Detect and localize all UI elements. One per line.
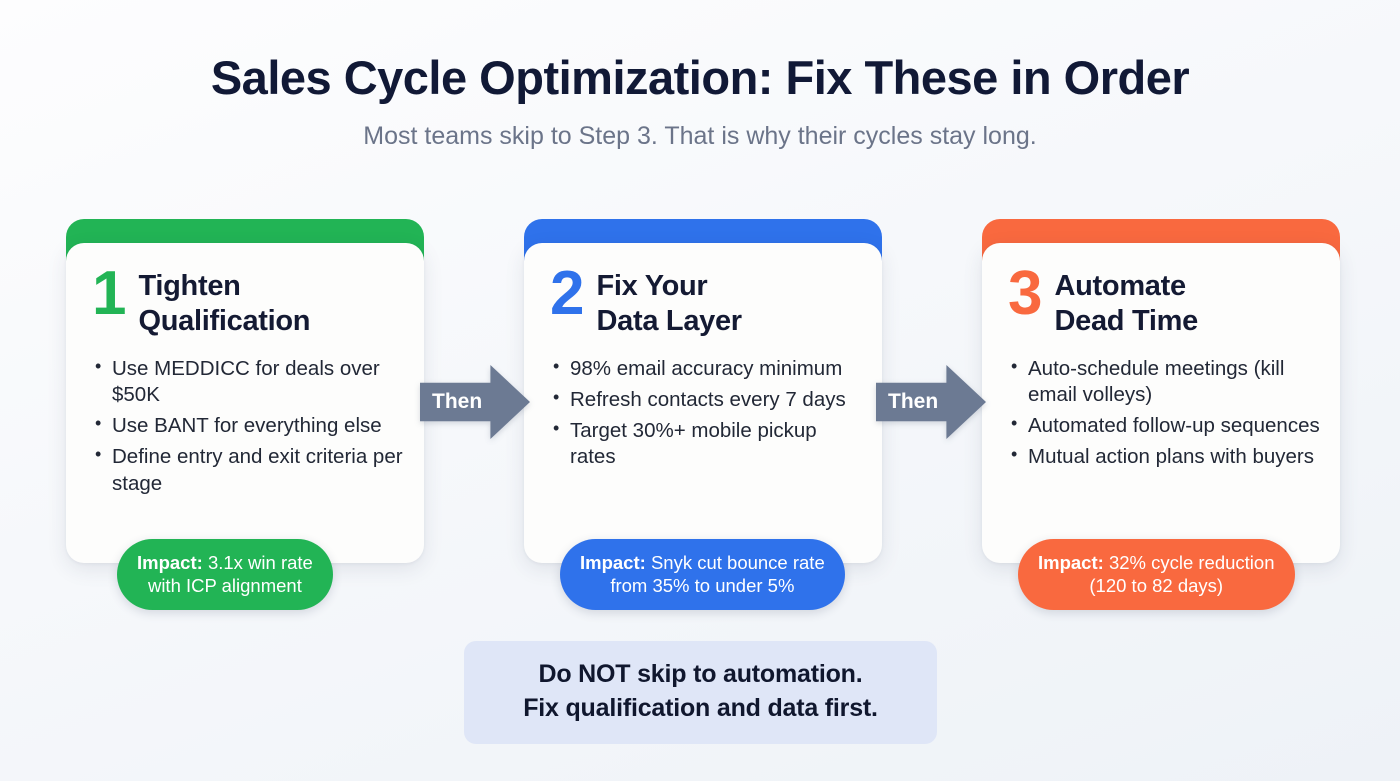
impact-badge-line1: Impact: Snyk cut bounce rate	[580, 551, 825, 574]
step-bullets-1: Use MEDDICC for deals over $50K Use BANT…	[86, 356, 404, 497]
then-arrow-2: Then	[876, 365, 986, 439]
step-title-line2: Data Layer	[596, 305, 741, 337]
step-title-line1: Fix Your	[596, 270, 707, 302]
impact-badge-line2: with ICP alignment	[137, 574, 313, 597]
list-item: Auto-schedule meetings (kill email volle…	[1028, 356, 1320, 408]
step-card-body-2: 2 Fix Your Data Layer 98% email accuracy…	[524, 243, 882, 563]
step-card-2[interactable]: 2 Fix Your Data Layer 98% email accuracy…	[524, 219, 882, 563]
list-item: Refresh contacts every 7 days	[570, 387, 862, 413]
then-arrow-1: Then	[420, 365, 530, 439]
step-header-2: 2 Fix Your Data Layer	[544, 265, 862, 340]
list-item: Use MEDDICC for deals over $50K	[112, 356, 404, 408]
bottom-callout: Do NOT skip to automation. Fix qualifica…	[464, 641, 937, 744]
list-item: Define entry and exit criteria per stage	[112, 444, 404, 496]
callout-line-1: Do NOT skip to automation.	[484, 657, 917, 691]
step-bullets-3: Auto-schedule meetings (kill email volle…	[1002, 356, 1320, 471]
step-card-body-3: 3 Automate Dead Time Auto-schedule meeti…	[982, 243, 1340, 563]
step-number-1: 1	[86, 265, 124, 324]
callout-line-2: Fix qualification and data first.	[484, 691, 917, 725]
impact-value: 3.1x win rate	[208, 552, 313, 573]
step-title-line1: Tighten	[138, 270, 240, 302]
step-bullets-2: 98% email accuracy minimum Refresh conta…	[544, 356, 862, 471]
impact-label: Impact:	[580, 552, 646, 573]
step-title-line1: Automate	[1054, 270, 1185, 302]
page-subtitle: Most teams skip to Step 3. That is why t…	[0, 121, 1400, 151]
step-number-3: 3	[1002, 265, 1040, 324]
impact-badge-2: Impact: Snyk cut bounce rate from 35% to…	[560, 539, 845, 610]
step-title-line2: Dead Time	[1054, 305, 1197, 337]
impact-badge-line2: from 35% to under 5%	[580, 574, 825, 597]
impact-badge-line1: Impact: 32% cycle reduction	[1038, 551, 1275, 574]
step-card-body-1: 1 Tighten Qualification Use MEDDICC for …	[66, 243, 424, 563]
step-title-1: Tighten Qualification	[138, 265, 310, 340]
page-title: Sales Cycle Optimization: Fix These in O…	[0, 52, 1400, 105]
step-card-3[interactable]: 3 Automate Dead Time Auto-schedule meeti…	[982, 219, 1340, 563]
then-arrow-label: Then	[876, 390, 938, 414]
step-card-1[interactable]: 1 Tighten Qualification Use MEDDICC for …	[66, 219, 424, 563]
list-item: 98% email accuracy minimum	[570, 356, 862, 382]
list-item: Use BANT for everything else	[112, 413, 404, 439]
impact-badge-3: Impact: 32% cycle reduction (120 to 82 d…	[1018, 539, 1295, 610]
list-item: Automated follow-up sequences	[1028, 413, 1320, 439]
step-header-3: 3 Automate Dead Time	[1002, 265, 1320, 340]
then-arrow-label: Then	[420, 390, 482, 414]
impact-badge-line2: (120 to 82 days)	[1038, 574, 1275, 597]
impact-value: Snyk cut bounce rate	[651, 552, 825, 573]
step-header-1: 1 Tighten Qualification	[86, 265, 404, 340]
list-item: Mutual action plans with buyers	[1028, 444, 1320, 470]
impact-badge-1: Impact: 3.1x win rate with ICP alignment	[117, 539, 333, 610]
page-header: Sales Cycle Optimization: Fix These in O…	[0, 0, 1400, 151]
step-number-2: 2	[544, 265, 582, 324]
list-item: Target 30%+ mobile pickup rates	[570, 418, 862, 470]
steps-row: 1 Tighten Qualification Use MEDDICC for …	[0, 219, 1400, 619]
impact-value: 32% cycle reduction	[1109, 552, 1275, 573]
impact-label: Impact:	[1038, 552, 1104, 573]
step-title-2: Fix Your Data Layer	[596, 265, 741, 340]
step-title-3: Automate Dead Time	[1054, 265, 1197, 340]
step-title-line2: Qualification	[138, 305, 310, 337]
impact-badge-line1: Impact: 3.1x win rate	[137, 551, 313, 574]
impact-label: Impact:	[137, 552, 203, 573]
